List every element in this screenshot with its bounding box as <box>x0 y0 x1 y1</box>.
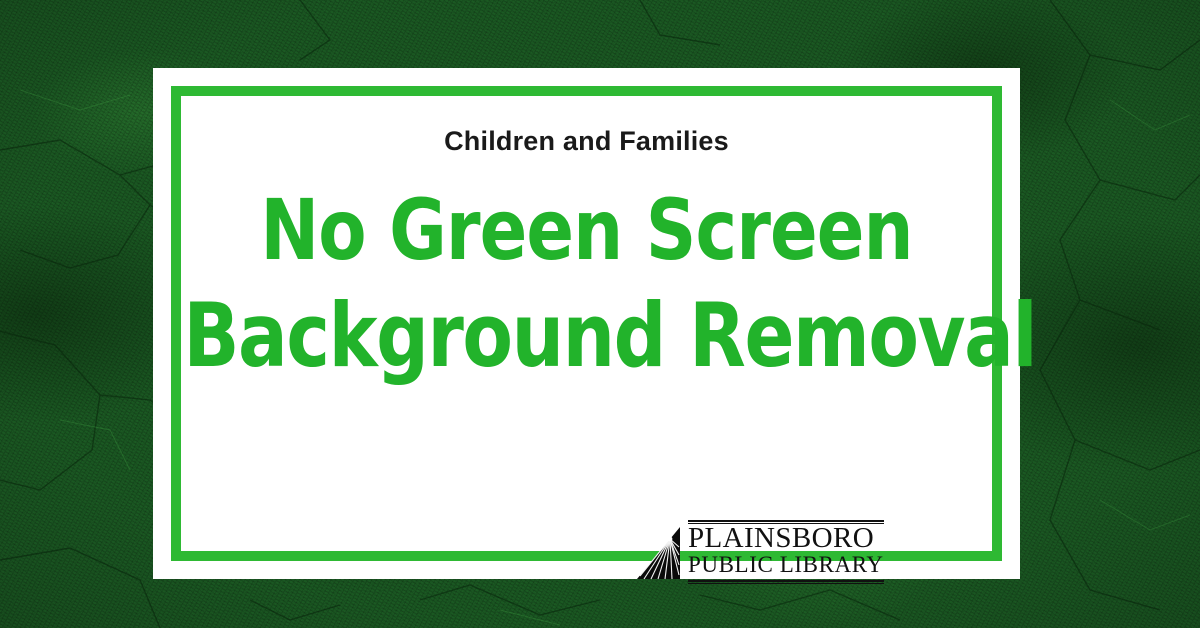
card-content: Children and Families No Green Screen Ba… <box>153 68 1020 579</box>
event-title-line-1: No Green Screen <box>183 189 989 271</box>
audience-label: Children and Families <box>444 128 729 155</box>
library-logo-type: PLAINSBORO PUBLIC LIBRARY <box>688 520 884 585</box>
library-logo: PLAINSBORO PUBLIC LIBRARY <box>636 521 854 583</box>
event-title: No Green Screen Background Removal <box>153 189 1020 380</box>
event-title-line-2: Background Removal <box>183 293 989 379</box>
logo-rule-bottom <box>688 580 884 584</box>
library-fan-sunburst-icon <box>636 523 682 581</box>
event-card: Children and Families No Green Screen Ba… <box>153 68 1020 579</box>
logo-line-plainsboro: PLAINSBORO <box>688 524 884 554</box>
logo-line-public-library: PUBLIC LIBRARY <box>688 553 884 577</box>
